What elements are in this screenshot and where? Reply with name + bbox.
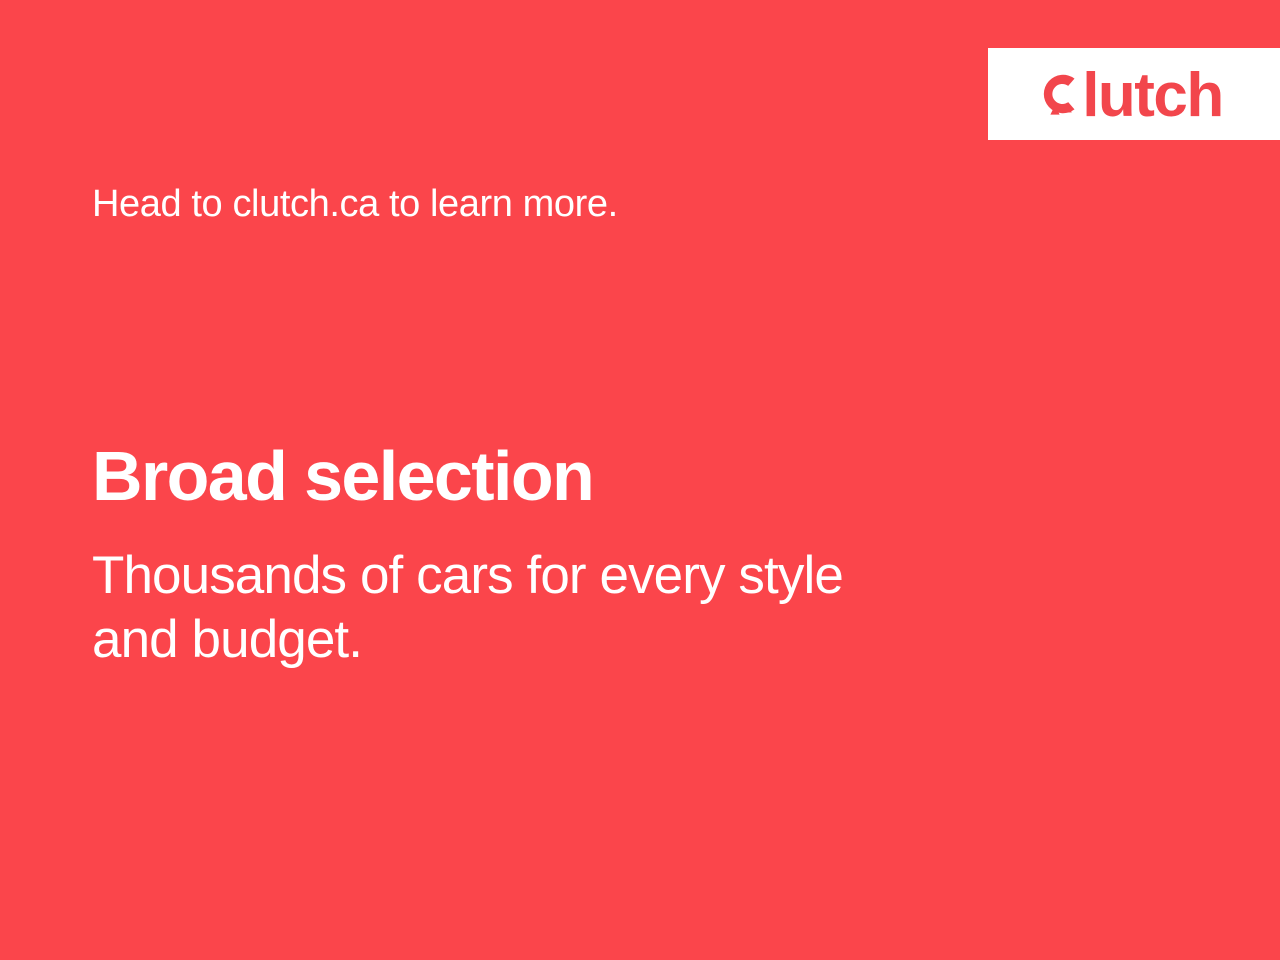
headline: Broad selection [92, 437, 593, 515]
subcopy: Thousands of cars for every style and bu… [92, 544, 1052, 671]
clutch-logo-lockup: lutch [1035, 65, 1223, 123]
clutch-c-monogram-icon [1035, 66, 1081, 122]
eyebrow-text: Head to clutch.ca to learn more. [92, 182, 618, 228]
brand-logo-plate[interactable]: lutch [988, 48, 1280, 140]
subcopy-line-1: Thousands of cars for every style [92, 544, 1052, 608]
clutch-wordmark: lutch [1082, 65, 1223, 127]
subcopy-line-2: and budget. [92, 608, 1052, 672]
slide-canvas: lutch Head to clutch.ca to learn more. B… [0, 0, 1280, 960]
